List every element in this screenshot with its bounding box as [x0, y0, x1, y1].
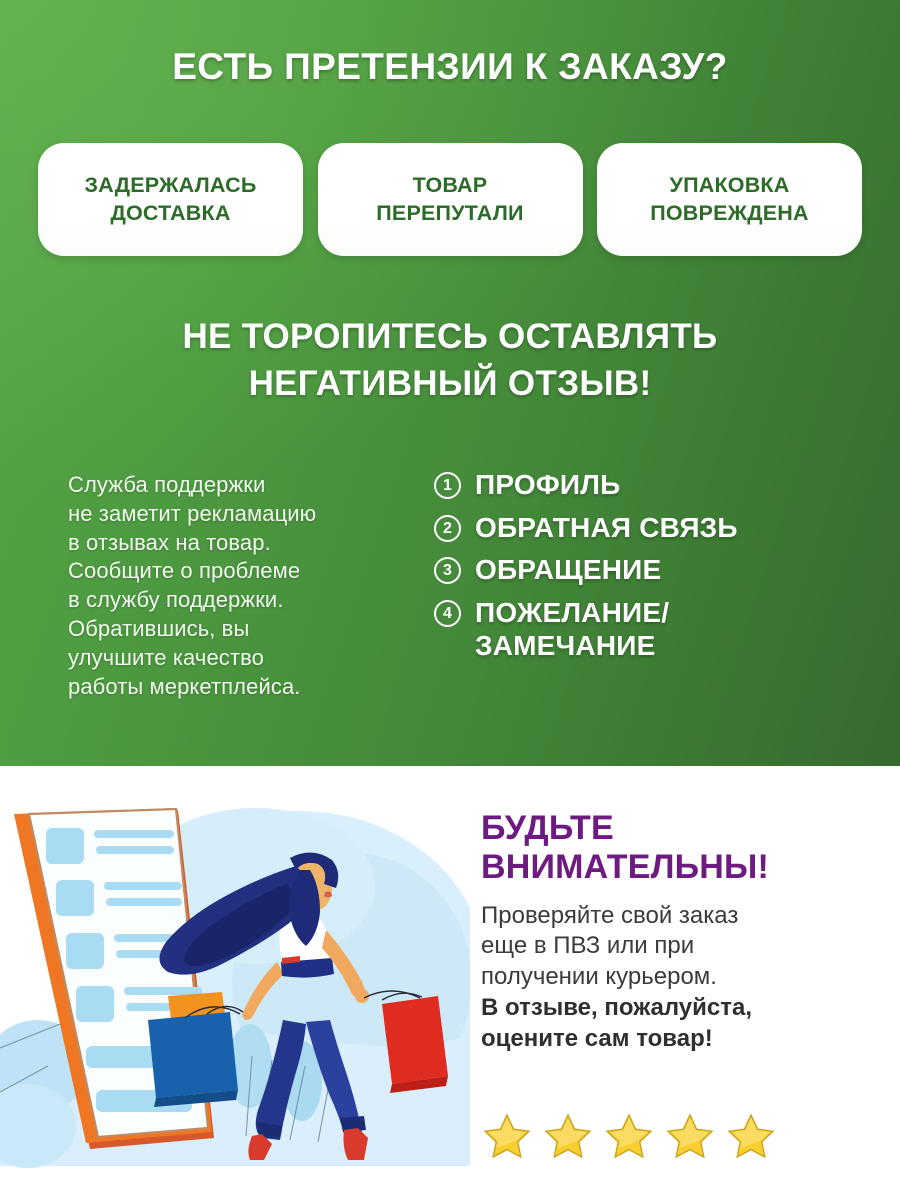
support-step-request-label: ОБРАЩЕНИЕ	[475, 553, 661, 587]
circled-number-4-icon: 4	[434, 600, 461, 627]
support-description-line2: не заметит рекламацию	[68, 500, 398, 529]
support-steps-list: 1 ПРОФИЛЬ 2 ОБРАТНАЯ СВЯЗЬ 3 ОБРАЩЕНИЕ 4	[434, 468, 864, 672]
support-step-feedback-label: ОБРАТНАЯ СВЯЗЬ	[475, 511, 738, 545]
support-description-line5: в службу поддержки.	[68, 586, 398, 615]
claim-button-damaged-packaging[interactable]: УПАКОВКА ПОВРЕЖДЕНА	[597, 143, 862, 256]
support-description-line8: работы меркетплейса.	[68, 673, 398, 702]
support-description-line7: улучшите качество	[68, 644, 398, 673]
claim-button-damaged-packaging-line2: ПОВРЕЖДЕНА	[650, 200, 809, 228]
claim-button-wrong-item-line2: ПЕРЕПУТАЛИ	[376, 200, 523, 228]
attention-body-line2: еще в ПВЗ или при	[481, 931, 881, 962]
support-step-profile-label: ПРОФИЛЬ	[475, 468, 620, 502]
support-step-suggestion-label: ПОЖЕЛАНИЕ/ ЗАМЕЧАНИЕ	[475, 596, 669, 663]
support-step-suggestion: 4 ПОЖЕЛАНИЕ/ ЗАМЕЧАНИЕ	[434, 596, 864, 663]
claim-reason-button-group: ЗАДЕРЖАЛАСЬ ДОСТАВКА ТОВАР ПЕРЕПУТАЛИ УП…	[38, 143, 862, 256]
attention-body-line1: Проверяйте свой заказ	[481, 901, 881, 932]
promo-banner: ЕСТЬ ПРЕТЕНЗИИ К ЗАКАЗУ? ЗАДЕРЖАЛАСЬ ДОС…	[0, 0, 900, 1200]
attention-heading: БУДЬТЕ ВНИМАТЕЛЬНЫ!	[481, 809, 881, 887]
circled-number-1-icon: 1	[434, 472, 461, 499]
support-description-line6: Обратившись, вы	[68, 615, 398, 644]
support-step-request: 3 ОБРАЩЕНИЕ	[434, 553, 864, 587]
green-info-panel: ЕСТЬ ПРЕТЕНЗИИ К ЗАКАЗУ? ЗАДЕРЖАЛАСЬ ДОС…	[0, 0, 900, 766]
attention-text-block: БУДЬТЕ ВНИМАТЕЛЬНЫ! Проверяйте свой зака…	[481, 809, 881, 1055]
star-icon-4[interactable]	[666, 1112, 714, 1163]
headline-line1: НЕ ТОРОПИТЕСЬ ОСТАВЛЯТЬ	[0, 314, 900, 361]
support-step-feedback: 2 ОБРАТНАЯ СВЯЗЬ	[434, 511, 864, 545]
star-rating[interactable]	[483, 1112, 775, 1163]
support-description-line3: в отзывах на товар.	[68, 529, 398, 558]
star-icon-3[interactable]	[605, 1112, 653, 1163]
attention-body: Проверяйте свой заказ еще в ПВЗ или при …	[481, 901, 881, 1056]
support-description: Служба поддержки не заметит рекламацию в…	[68, 471, 398, 702]
circled-number-2-icon: 2	[434, 515, 461, 542]
support-step-profile: 1 ПРОФИЛЬ	[434, 468, 864, 502]
claim-button-wrong-item-line1: ТОВАР	[376, 172, 523, 200]
attention-body-line5: оцените сам товар!	[481, 1024, 881, 1055]
attention-body-line4: В отзыве, пожалуйста,	[481, 993, 881, 1024]
headline: НЕ ТОРОПИТЕСЬ ОСТАВЛЯТЬ НЕГАТИВНЫЙ ОТЗЫВ…	[0, 314, 900, 408]
star-icon-2[interactable]	[544, 1112, 592, 1163]
support-description-line4: Сообщите о проблеме	[68, 557, 398, 586]
claim-button-wrong-item[interactable]: ТОВАР ПЕРЕПУТАЛИ	[318, 143, 583, 256]
page-title: ЕСТЬ ПРЕТЕНЗИИ К ЗАКАЗУ?	[0, 46, 900, 88]
claim-button-delivery-delayed[interactable]: ЗАДЕРЖАЛАСЬ ДОСТАВКА	[38, 143, 303, 256]
claim-button-delivery-delayed-line2: ДОСТАВКА	[85, 200, 257, 228]
star-icon-1[interactable]	[483, 1112, 531, 1163]
headline-line2: НЕГАТИВНЫЙ ОТЗЫВ!	[0, 361, 900, 408]
attention-heading-line1: БУДЬТЕ	[481, 809, 881, 848]
circled-number-3-icon: 3	[434, 557, 461, 584]
star-icon-5[interactable]	[727, 1112, 775, 1163]
support-description-line1: Служба поддержки	[68, 471, 398, 500]
attention-body-line3: получении курьером.	[481, 962, 881, 993]
attention-heading-line2: ВНИМАТЕЛЬНЫ!	[481, 848, 881, 887]
claim-button-delivery-delayed-line1: ЗАДЕРЖАЛАСЬ	[85, 172, 257, 200]
claim-button-damaged-packaging-line1: УПАКОВКА	[650, 172, 809, 200]
woman-shopping-with-phone-illustration	[0, 766, 470, 1200]
